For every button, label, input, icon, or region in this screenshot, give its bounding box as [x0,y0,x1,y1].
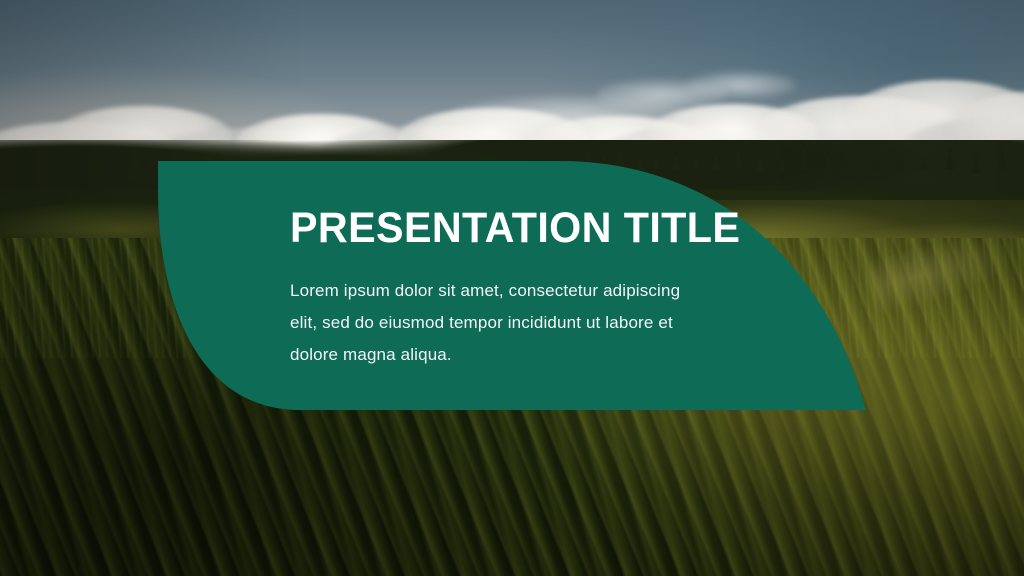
slide-subtitle: Lorem ipsum dolor sit amet, consectetur … [290,275,700,371]
slide-text-block: PRESENTATION TITLE Lorem ipsum dolor sit… [290,203,710,371]
page-title: PRESENTATION TITLE [290,203,693,253]
presentation-slide: PRESENTATION TITLE Lorem ipsum dolor sit… [0,0,1024,576]
